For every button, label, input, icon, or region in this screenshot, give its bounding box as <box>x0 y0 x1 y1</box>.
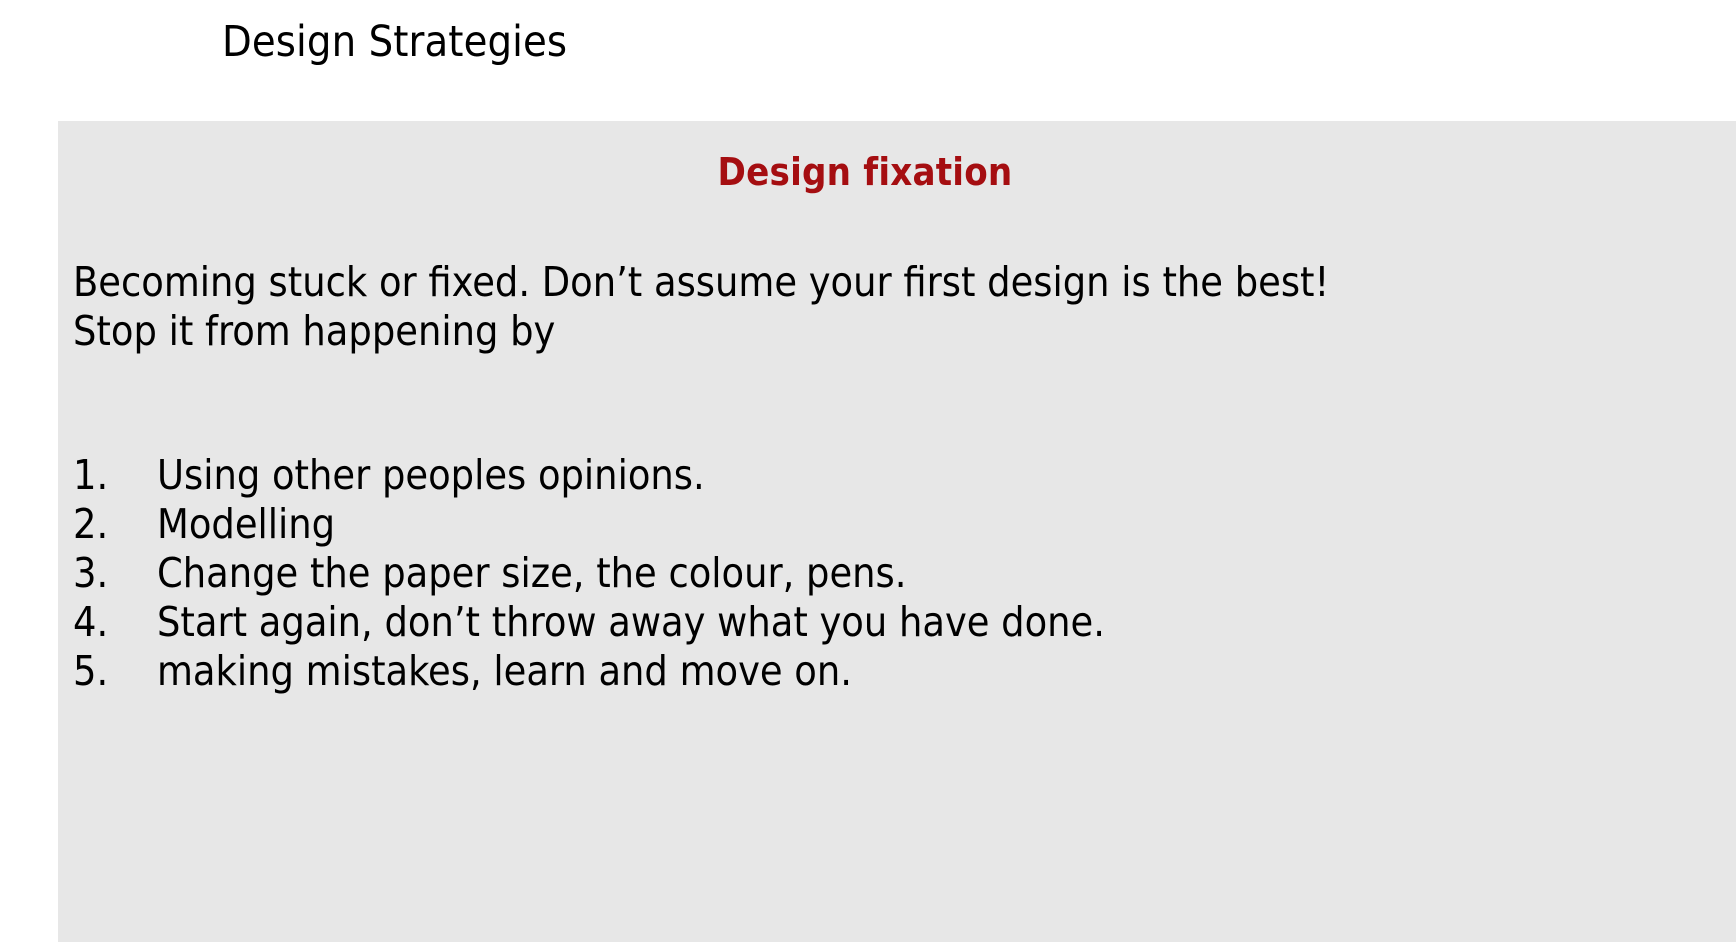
list-item-marker: 2. <box>73 500 121 549</box>
list-item-marker: 1. <box>73 451 121 500</box>
list-item: 3. Change the paper size, the colour, pe… <box>73 549 1713 598</box>
fixation-heading: Design fixation <box>58 150 1672 194</box>
list-item-label: Modelling <box>157 500 335 548</box>
slide-title: Design Strategies <box>222 18 567 67</box>
list-item: 5. making mistakes, learn and move on. <box>73 647 1713 696</box>
intro-line: Becoming stuck or fixed. Don’t assume yo… <box>73 258 1733 307</box>
content-panel: Design fixation Becoming stuck or fixed.… <box>58 121 1736 942</box>
list-item-marker: 4. <box>73 598 121 647</box>
list-item-marker: 3. <box>73 549 121 598</box>
list-item-marker: 5. <box>73 647 121 696</box>
list-item: 2. Modelling <box>73 500 1713 549</box>
intro-block: Becoming stuck or fixed. Don’t assume yo… <box>73 258 1733 356</box>
list-item-label: making mistakes, learn and move on. <box>157 647 852 695</box>
intro-line: Stop it from happening by <box>73 307 1733 356</box>
list-item: 1. Using other peoples opinions. <box>73 451 1713 500</box>
fixation-list: 1. Using other peoples opinions. 2. Mode… <box>73 451 1713 696</box>
list-item-label: Using other peoples opinions. <box>157 451 705 499</box>
list-item: 4. Start again, don’t throw away what yo… <box>73 598 1713 647</box>
list-item-label: Start again, don’t throw away what you h… <box>157 598 1105 646</box>
list-item-label: Change the paper size, the colour, pens. <box>157 549 907 597</box>
